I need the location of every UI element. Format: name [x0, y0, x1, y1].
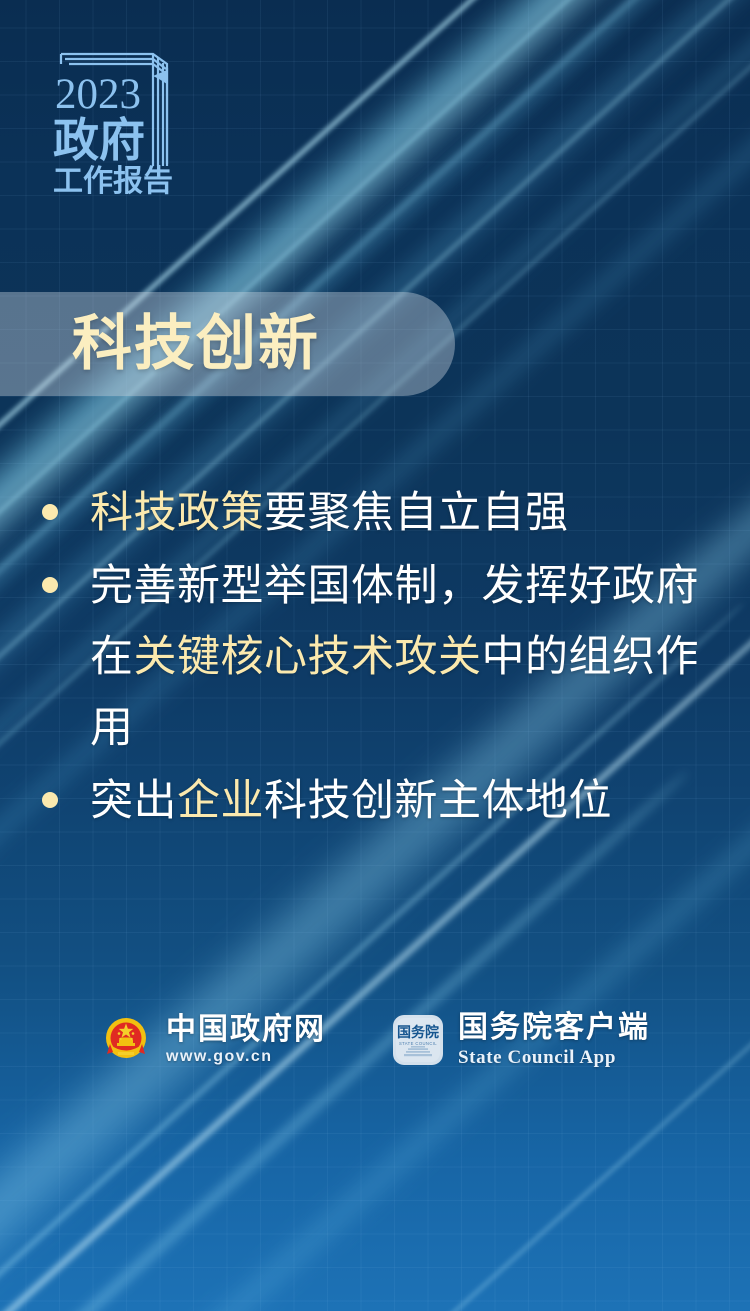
bullet-dot-icon	[42, 792, 58, 808]
brand-text: 中国政府网 www.gov.cn	[166, 1014, 326, 1066]
bullet-dot-icon	[42, 504, 58, 520]
brand-china-gov[interactable]: 中国政府网 www.gov.cn	[100, 1014, 326, 1066]
list-item-text: 完善新型举国体制，发挥好政府在关键核心技术攻关中的组织作用	[90, 551, 712, 764]
highlight-phrase: 企业	[177, 777, 264, 825]
list-item: 科技政策要聚焦自立自强	[42, 478, 712, 549]
report-logo: 2023 政府 工作报告	[45, 36, 195, 196]
plain-phrase: 要聚焦自立自强	[264, 489, 569, 537]
logo-year: 2023	[55, 71, 141, 118]
brand-name-cn: 中国政府网	[166, 1013, 326, 1046]
plain-phrase: 科技创新主体地位	[264, 777, 612, 825]
highlight-phrase: 科技政策	[90, 489, 264, 537]
brand-state-council-app[interactable]: 国务院 STATE COUNCIL 国务院客户端 State Council A…	[392, 1012, 650, 1067]
app-icon-sublabel: STATE COUNCIL	[399, 1041, 437, 1046]
logo-line1: 政府	[53, 114, 145, 166]
highlight-phrase: 关键核心技术攻关	[134, 633, 482, 681]
footer-brands: 中国政府网 www.gov.cn 国务院 STATE COUNCIL	[0, 1012, 750, 1067]
list-item: 突出企业科技创新主体地位	[42, 766, 712, 837]
plain-phrase: 突出	[90, 777, 177, 825]
state-council-app-icon: 国务院 STATE COUNCIL	[392, 1014, 444, 1066]
page-title: 科技创新	[72, 314, 320, 374]
brand-text: 国务院客户端 State Council App	[458, 1012, 650, 1067]
list-item: 完善新型举国体制，发挥好政府在关键核心技术攻关中的组织作用	[42, 551, 712, 764]
poster-root: 2023 政府 工作报告 科技创新 科技政策要聚焦自立自强 完善新型举国体制，发…	[0, 0, 750, 1311]
logo-line2: 工作报告	[53, 165, 173, 196]
bullet-list: 科技政策要聚焦自立自强 完善新型举国体制，发挥好政府在关键核心技术攻关中的组织作…	[42, 478, 712, 839]
brand-name-cn: 国务院客户端	[458, 1011, 650, 1044]
brand-url: www.gov.cn	[166, 1049, 326, 1066]
list-item-text: 科技政策要聚焦自立自强	[90, 478, 712, 549]
national-emblem-icon	[100, 1014, 152, 1066]
bullet-dot-icon	[42, 577, 58, 593]
brand-name-en: State Council App	[458, 1048, 650, 1068]
section-title-pill: 科技创新	[0, 292, 455, 396]
list-item-text: 突出企业科技创新主体地位	[90, 766, 712, 837]
app-icon-label: 国务院	[397, 1024, 439, 1040]
